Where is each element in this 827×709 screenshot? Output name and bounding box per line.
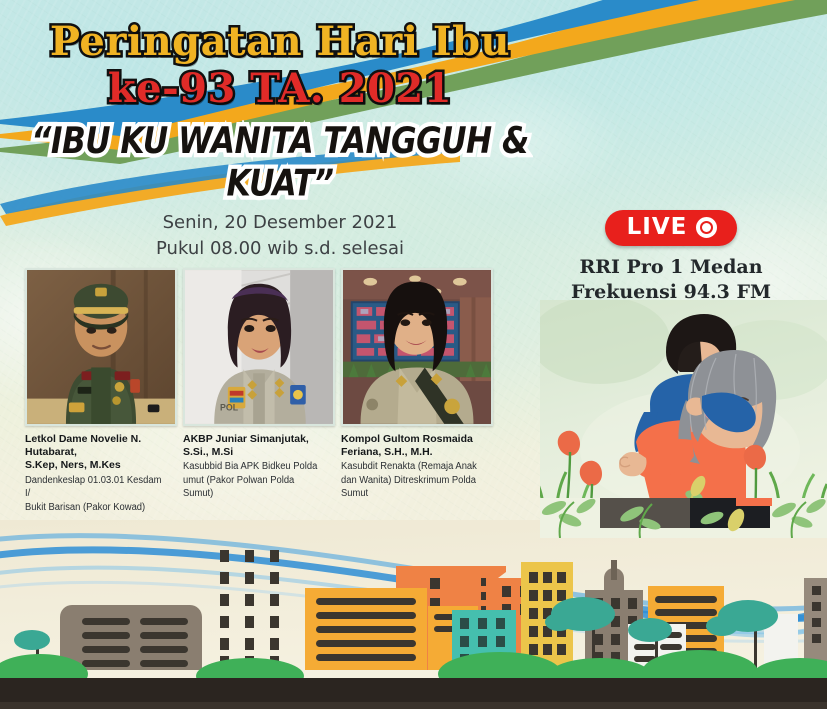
radio-station: RRI Pro 1 Medan [556,255,786,280]
speaker-role-line1: Kasubdit Renakta (Remaja Anak [341,460,484,473]
speaker-card: Letkol Dame Novelie N. Hutabarat, S.Kep,… [25,268,177,514]
page-title-line1: Peringatan Hari Ibu [0,22,560,63]
speaker-role-line1: Kasubbid Bia APK Bidkeu Polda [183,460,326,473]
speaker-caption: Kompol Gultom Rosmaida Feriana, S.H., M.… [341,433,493,500]
speaker-name-line2: Feriana, S.H., M.H. [341,446,493,459]
speaker-name-line1: Letkol Dame Novelie N. Hutabarat, [25,433,177,459]
event-time: Pukul 08.00 wib s.d. selesai [0,236,560,262]
svg-text:POL: POL [220,402,239,412]
record-dot-icon [696,217,717,238]
speaker-role-line2: dan Wanita) Ditreskrimum Polda Sumut [341,474,484,500]
page-title-line2: ke-93 TA. 2021 [0,69,560,110]
radio-info: RRI Pro 1 Medan Frekuensi 94.3 FM [556,255,786,304]
tagline: “IBU KU WANITA TANGGUH & KUAT” [0,120,571,205]
speaker-card: Kompol Gultom Rosmaida Feriana, S.H., M.… [341,268,493,514]
speaker-photo-police-officer-2 [341,268,493,426]
speaker-name-line2: S.Kep, Ners, M.Kes [25,459,177,472]
poster-canvas: Peringatan Hari Ibu ke-93 TA. 2021 “IBU … [0,0,827,709]
speaker-role-line2: umut (Pakor Polwan Polda Sumut) [183,474,326,500]
speaker-card: POL AKBP Juniar Simanjutak, S.Si., M.Si … [183,268,335,514]
speaker-list: Letkol Dame Novelie N. Hutabarat, S.Kep,… [25,268,530,514]
title-block: Peringatan Hari Ibu ke-93 TA. 2021 “IBU … [0,22,560,190]
radio-frequency: Frekuensi 94.3 FM [556,280,786,305]
speaker-photo-police-officer-1: POL [183,268,335,426]
speaker-photo-army-officer [25,268,177,426]
city-skyline-illustration [0,520,827,709]
speaker-name-line1: AKBP Juniar Simanjutak, [183,433,335,446]
speaker-name-line2: S.Si., M.Si [183,446,335,459]
event-date: Senin, 20 Desember 2021 [0,210,560,236]
speaker-name-line1: Kompol Gultom Rosmaida [341,433,493,446]
speaker-caption: AKBP Juniar Simanjutak, S.Si., M.Si Kasu… [183,433,335,500]
live-badge: LIVE [605,210,738,246]
speaker-caption: Letkol Dame Novelie N. Hutabarat, S.Kep,… [25,433,177,514]
speaker-role-line1: Dandenkeslap 01.03.01 Kesdam I/ [25,474,168,500]
broadcast-block: LIVE RRI Pro 1 Medan Frekuensi 94.3 FM [556,210,786,304]
foliage-decor [540,498,827,538]
live-label: LIVE [627,216,688,239]
speaker-role-line2: Bukit Barisan (Pakor Kowad) [25,501,168,514]
event-datetime: Senin, 20 Desember 2021 Pukul 08.00 wib … [0,210,560,261]
